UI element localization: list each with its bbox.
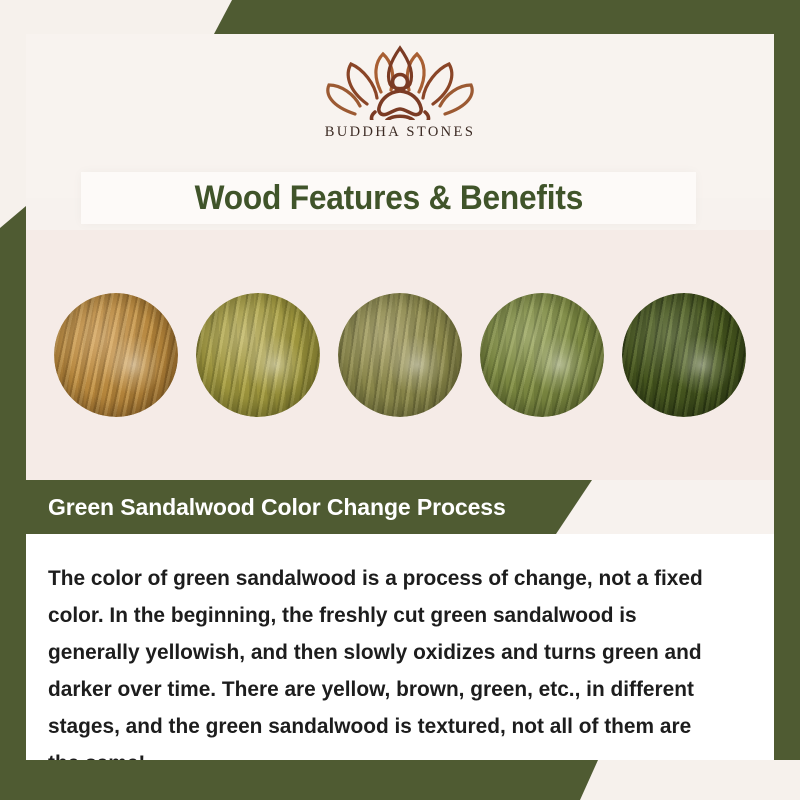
section-heading: Green Sandalwood Color Change Process [48, 494, 506, 521]
bead-shading [338, 293, 462, 417]
bead-stage-2[interactable] [196, 293, 320, 417]
bead-stage-3[interactable] [338, 293, 462, 417]
bead-stage-4[interactable] [480, 293, 604, 417]
lotus-meditation-icon [315, 42, 485, 120]
header: BUDDHA STONES Wood Features & Benefits [26, 34, 774, 198]
poster-root: BUDDHA STONES Wood Features & Benefits [0, 0, 800, 800]
bead-shading [196, 293, 320, 417]
body-paragraph: The color of green sandalwood is a proce… [48, 560, 721, 760]
bead-stage-5[interactable] [622, 293, 746, 417]
frame-notch-bottom-right [580, 760, 800, 800]
body-panel: The color of green sandalwood is a proce… [26, 534, 774, 760]
page-title: Wood Features & Benefits [194, 179, 583, 218]
bead-shading [54, 293, 178, 417]
bead-gallery [26, 230, 774, 480]
frame-notch-left [0, 0, 26, 228]
page-content: BUDDHA STONES Wood Features & Benefits [26, 34, 774, 760]
brand-logo: BUDDHA STONES [26, 42, 774, 141]
section-heading-banner: Green Sandalwood Color Change Process [26, 480, 592, 534]
bead-shading [480, 293, 604, 417]
brand-name: BUDDHA STONES [325, 124, 476, 141]
bead-stage-1[interactable] [54, 293, 178, 417]
frame-notch-top-left [0, 0, 232, 34]
bead-shading [622, 293, 746, 417]
page-title-band: Wood Features & Benefits [81, 172, 696, 224]
